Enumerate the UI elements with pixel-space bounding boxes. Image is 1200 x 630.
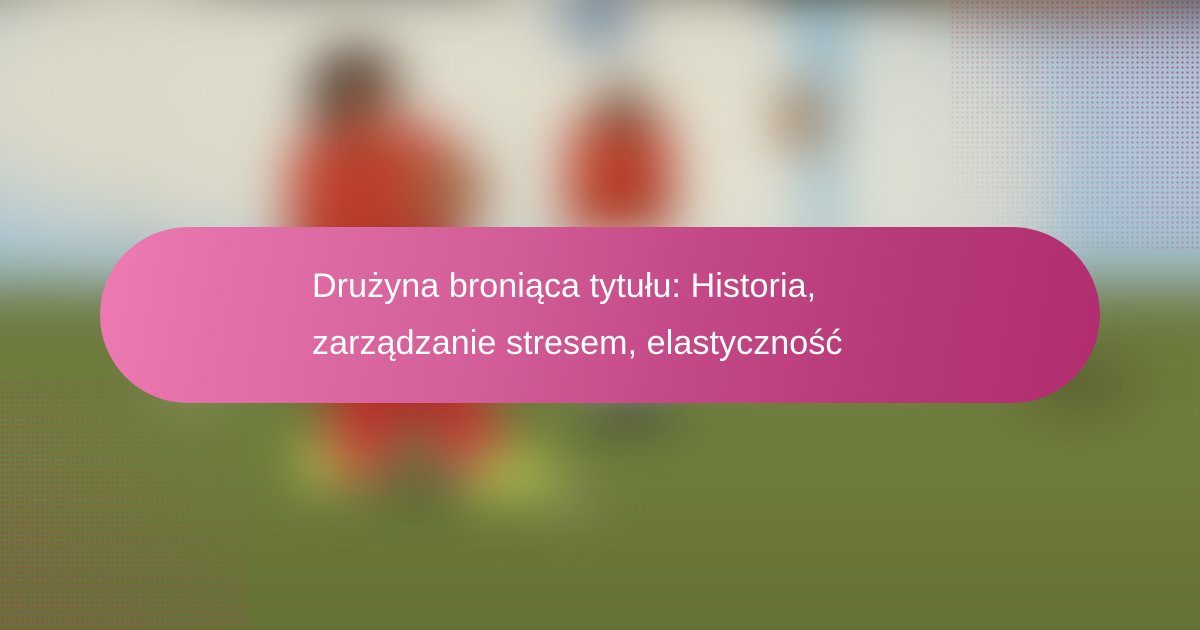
- share-card-canvas: Drużyna broniąca tytułu: Historia, zarzą…: [0, 0, 1200, 630]
- player-arm: [408, 154, 486, 228]
- background-tan-strip: [920, 0, 1150, 60]
- player-face: [338, 80, 392, 138]
- title-pill: Drużyna broniąca tytułu: Historia, zarzą…: [100, 227, 1100, 403]
- football-blob: [550, 48, 606, 94]
- background-blob-right: [778, 90, 824, 152]
- distant-player-head: [598, 84, 646, 136]
- page-title: Drużyna broniąca tytułu: Historia, zarzą…: [312, 258, 843, 372]
- background-blue-patch: [540, 0, 650, 60]
